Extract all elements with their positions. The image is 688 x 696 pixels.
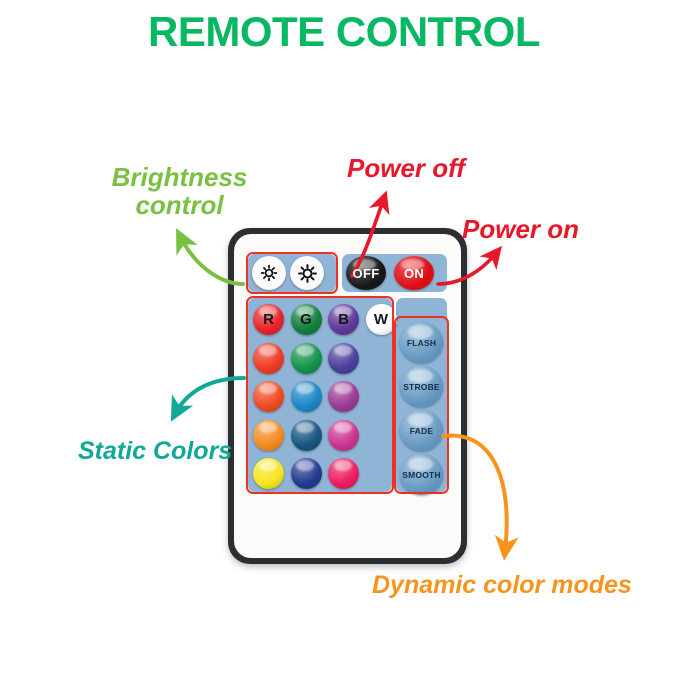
- on-button-label: ON: [404, 266, 424, 281]
- strobe-button-label: STROBE: [403, 382, 440, 392]
- color-button-r2c1[interactable]: [253, 343, 284, 374]
- fade-button[interactable]: FADE: [400, 410, 443, 451]
- sun-small-icon: [259, 263, 279, 283]
- color-button-r2c2[interactable]: [291, 343, 322, 374]
- color-button-w[interactable]: W: [366, 304, 397, 335]
- remote-face: OFF ON RGBW FLASHSTROBEFADESMOOTH: [234, 234, 461, 558]
- brightness-up-button[interactable]: [290, 256, 324, 290]
- color-button-label: G: [300, 311, 312, 328]
- remote-control-body: OFF ON RGBW FLASHSTROBEFADESMOOTH: [228, 228, 467, 564]
- strobe-button[interactable]: STROBE: [400, 366, 443, 407]
- brightness-down-button[interactable]: [252, 256, 286, 290]
- annotation-power-on-label: Power on: [462, 216, 579, 244]
- color-button-r5c3[interactable]: [328, 458, 359, 489]
- off-button[interactable]: OFF: [346, 256, 386, 290]
- infographic-stage: REMOTE CONTROL: [0, 0, 688, 696]
- on-button[interactable]: ON: [394, 256, 434, 290]
- color-button-r3c2[interactable]: [291, 381, 322, 412]
- color-button-g[interactable]: G: [291, 304, 322, 335]
- smooth-button[interactable]: SMOOTH: [400, 454, 443, 495]
- annotation-power-off-label: Power off: [347, 155, 465, 183]
- off-button-label: OFF: [353, 266, 380, 281]
- flash-button-label: FLASH: [407, 338, 436, 348]
- color-button-label: R: [263, 311, 274, 328]
- color-button-r4c1[interactable]: [253, 420, 284, 451]
- color-button-r4c2[interactable]: [291, 420, 322, 451]
- color-button-r5c2[interactable]: [291, 458, 322, 489]
- color-button-label: B: [338, 311, 349, 328]
- sun-large-icon: [297, 263, 318, 284]
- annotation-brightness-label: Brightness control: [92, 164, 267, 219]
- color-button-r[interactable]: R: [253, 304, 284, 335]
- color-button-r2c3[interactable]: [328, 343, 359, 374]
- fade-button-label: FADE: [410, 426, 433, 436]
- color-button-r3c3[interactable]: [328, 381, 359, 412]
- color-button-r5c1[interactable]: [253, 458, 284, 489]
- flash-button[interactable]: FLASH: [400, 322, 443, 363]
- color-button-label: W: [374, 311, 388, 328]
- annotation-static-colors-label: Static Colors: [78, 438, 232, 465]
- annotation-dynamic-modes-label: Dynamic color modes: [372, 572, 632, 599]
- smooth-button-label: SMOOTH: [402, 470, 441, 480]
- color-button-r4c3[interactable]: [328, 420, 359, 451]
- color-button-r3c1[interactable]: [253, 381, 284, 412]
- page-title: REMOTE CONTROL: [0, 8, 688, 56]
- color-button-b[interactable]: B: [328, 304, 359, 335]
